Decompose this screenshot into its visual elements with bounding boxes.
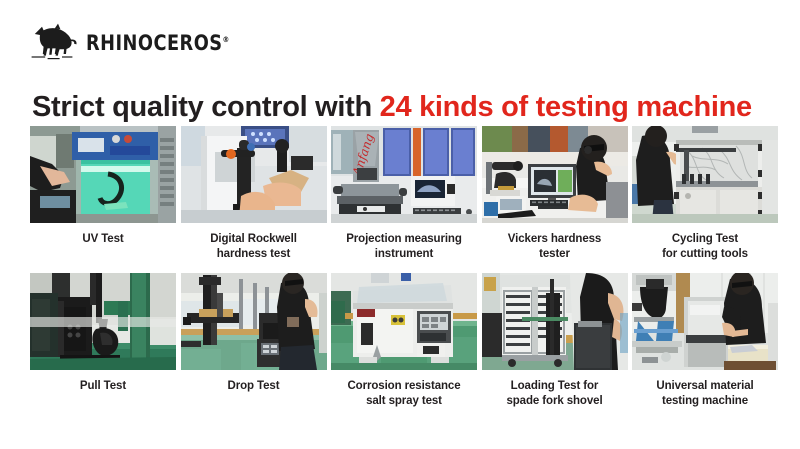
uv-test-photo xyxy=(30,126,176,223)
page-title-lead: Strict quality control with xyxy=(32,91,380,123)
gallery-item-caption: Vickers hardnesstester xyxy=(482,232,628,263)
page-title: Strict quality control with 24 kinds of … xyxy=(32,92,752,124)
brand-name: RHINOCEROS xyxy=(86,31,223,55)
gallery-item-universal-material-testing-machine[interactable]: Universal materialtesting machine xyxy=(632,273,778,410)
gallery-item-caption: Corrosion resistancesalt spray test xyxy=(331,379,477,410)
gallery-item-caption: Pull Test xyxy=(30,379,176,394)
vickers-hardness-tester-photo xyxy=(482,126,628,223)
rhinoceros-logo-icon xyxy=(30,22,82,62)
loading-test-for-spade-fork-shovel-photo xyxy=(482,273,628,370)
gallery-item-caption: UV Test xyxy=(30,232,176,247)
trademark-symbol: ® xyxy=(223,35,230,44)
gallery-item-caption: Drop Test xyxy=(181,379,327,394)
gallery-item-loading-test-for-spade-fork-shovel[interactable]: Loading Test forspade fork shovel xyxy=(482,273,628,410)
gallery-item-caption: Cycling Testfor cutting tools xyxy=(632,232,778,263)
gallery-item-vickers-hardness-tester[interactable]: Vickers hardnesstester xyxy=(482,126,628,263)
gallery-item-uv-test[interactable]: UV Test xyxy=(30,126,176,263)
gallery-item-digital-rockwell-hardness-test[interactable]: Digital Rockwellhardness test xyxy=(181,126,327,263)
gallery-row: UV Test xyxy=(30,126,778,263)
projection-measuring-instrument-photo: Anfang xyxy=(331,126,477,223)
cycling-test-for-cutting-tools-photo xyxy=(632,126,778,223)
pull-test-photo xyxy=(30,273,176,370)
gallery-row: Pull Test xyxy=(30,273,778,410)
gallery-item-drop-test[interactable]: Drop Test xyxy=(181,273,327,410)
gallery-item-caption: Projection measuringinstrument xyxy=(331,232,477,263)
universal-material-testing-machine-photo xyxy=(632,273,778,370)
gallery-item-projection-measuring-instrument[interactable]: Anfang xyxy=(331,126,477,263)
gallery-item-corrosion-resistance-salt-spray-test[interactable]: Corrosion resistancesalt spray test xyxy=(331,273,477,410)
brand-wordmark: RHINOCEROS® xyxy=(86,33,230,54)
page-title-accent: 24 kinds of testing machine xyxy=(380,91,752,123)
gallery-item-caption: Digital Rockwellhardness test xyxy=(181,232,327,263)
brand-logo: RHINOCEROS® xyxy=(30,20,239,64)
drop-test-photo xyxy=(181,273,327,370)
testing-machine-gallery: UV Test xyxy=(30,126,778,419)
corrosion-resistance-salt-spray-test-photo xyxy=(331,273,477,370)
gallery-item-caption: Universal materialtesting machine xyxy=(632,379,778,410)
gallery-item-cycling-test-for-cutting-tools[interactable]: Cycling Testfor cutting tools xyxy=(632,126,778,263)
digital-rockwell-hardness-test-photo xyxy=(181,126,327,223)
gallery-item-caption: Loading Test forspade fork shovel xyxy=(482,379,628,410)
gallery-item-pull-test[interactable]: Pull Test xyxy=(30,273,176,410)
